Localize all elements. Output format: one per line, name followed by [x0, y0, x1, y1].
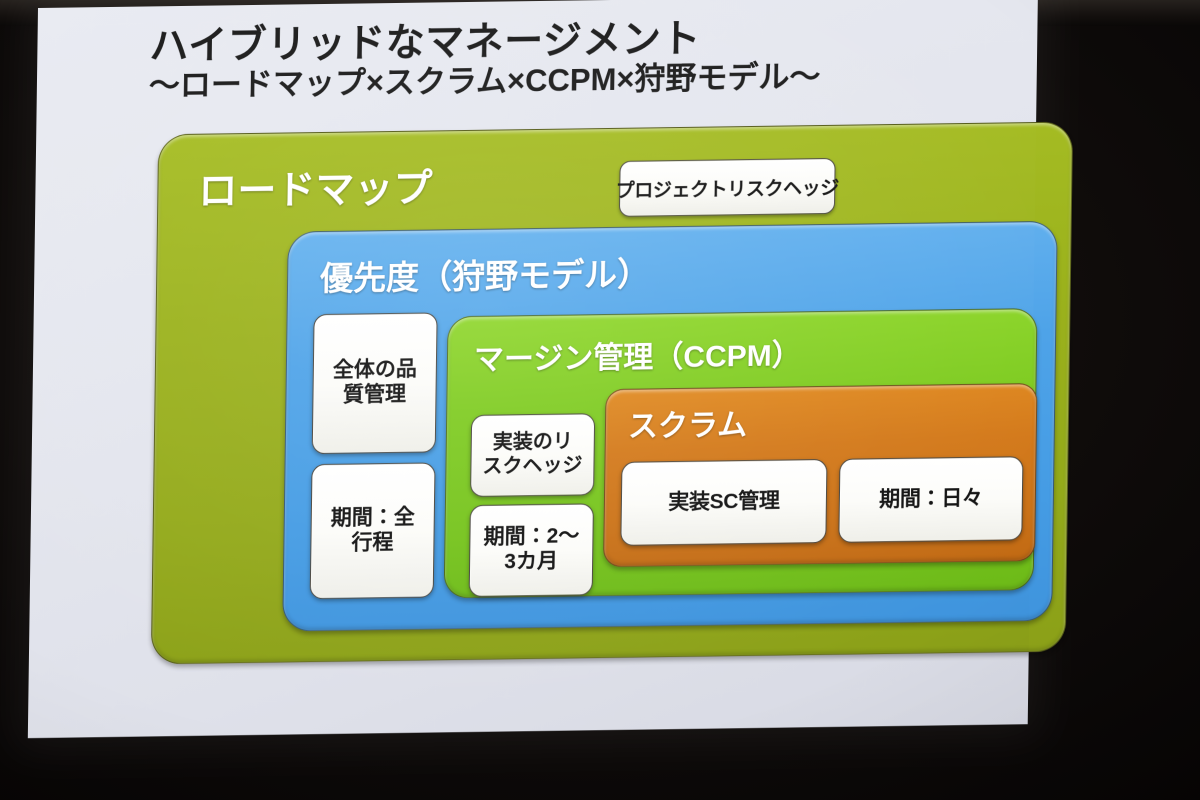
- card-line: 期間：2～: [483, 525, 579, 551]
- card-overall-quality[interactable]: 全体の品 質管理: [312, 312, 438, 454]
- card-line: 実装SC管理: [668, 489, 780, 515]
- card-line: 期間：日々: [879, 486, 983, 512]
- layer-roadmap-label: ロードマップ: [198, 158, 433, 217]
- projected-slide: ハイブリッドなマネージメント ～ロードマップ×スクラム×CCPM×狩野モデル～ …: [28, 0, 1038, 738]
- card-period-2-3-months[interactable]: 期間：2～ 3カ月: [469, 503, 594, 597]
- layer-ccpm-label: マージン管理（CCPM）: [474, 330, 802, 379]
- card-period-whole-process[interactable]: 期間：全 行程: [310, 462, 436, 599]
- layer-roadmap[interactable]: ロードマップ プロジェクトリスクヘッジ 優先度（狩野モデル） 全体の品 質管理 …: [151, 122, 1073, 665]
- card-line: スクヘッジ: [482, 454, 582, 479]
- layer-priority[interactable]: 優先度（狩野モデル） 全体の品 質管理 期間：全 行程 マージン管理（CCPM）: [282, 221, 1058, 632]
- badge-project-risk-hedge[interactable]: プロジェクトリスクヘッジ: [619, 158, 836, 217]
- card-line: 3カ月: [483, 549, 579, 575]
- card-period-daily[interactable]: 期間：日々: [838, 456, 1023, 543]
- layer-scrum-label: スクラム: [628, 400, 748, 446]
- slide-canvas: ハイブリッドなマネージメント ～ロードマップ×スクラム×CCPM×狩野モデル～ …: [28, 0, 1038, 738]
- card-implementation-risk-hedge[interactable]: 実装のリ スクヘッジ: [470, 413, 595, 497]
- card-implementation-sc-management[interactable]: 実装SC管理: [620, 459, 827, 546]
- layer-ccpm[interactable]: マージン管理（CCPM） 実装のリ スクヘッジ 期間：2～ 3カ月: [444, 308, 1038, 598]
- slide-title-block: ハイブリッドなマネージメント ～ロードマップ×スクラム×CCPM×狩野モデル～: [149, 15, 980, 105]
- card-line: 期間：全: [331, 506, 415, 532]
- card-line: 実装のリ: [483, 431, 583, 456]
- card-line: 全体の品: [333, 358, 417, 384]
- layer-scrum[interactable]: スクラム 実装SC管理 期間：日々: [603, 383, 1037, 567]
- card-line: 行程: [330, 530, 414, 556]
- layer-priority-label: 優先度（狩野モデル）: [320, 247, 651, 300]
- card-line: 質管理: [332, 383, 416, 409]
